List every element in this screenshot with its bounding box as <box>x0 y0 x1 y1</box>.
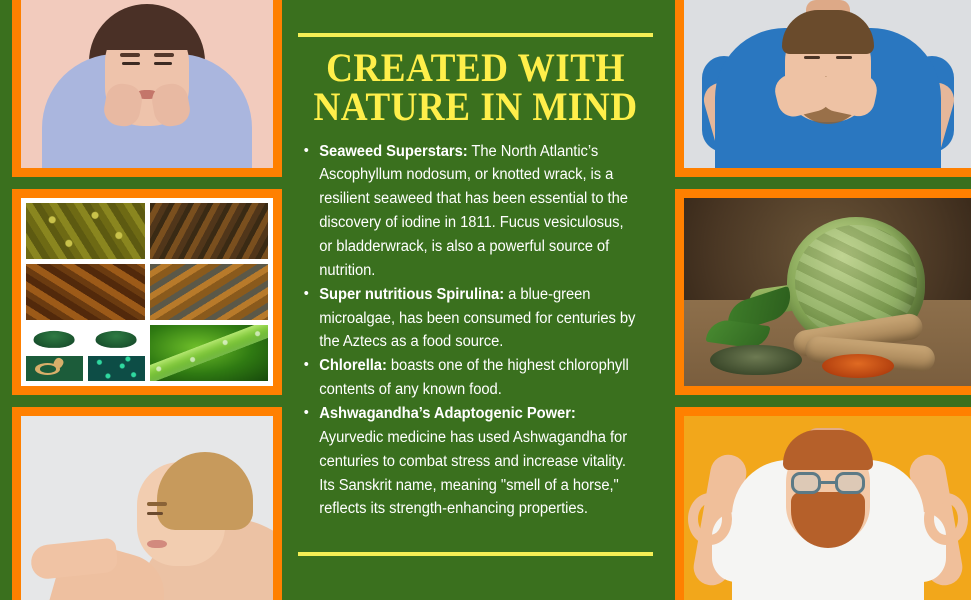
list-item: Ashwagandha’s Adaptogenic Power: Ayurved… <box>298 402 641 521</box>
man-heart-illustration <box>684 0 971 168</box>
ok-gesture-right <box>924 493 968 545</box>
collage-row-top <box>26 203 268 259</box>
collage-cell-spirulina-powder-2 <box>88 325 145 351</box>
still-life-illustration <box>684 198 971 386</box>
page-title: CREATED WITH NATURE IN MIND <box>310 49 640 127</box>
right-photo-column <box>669 0 971 600</box>
hair-shape <box>783 430 873 470</box>
collage-row-bottom <box>26 325 268 381</box>
hair-shape <box>782 10 874 54</box>
left-photo-column <box>0 0 288 600</box>
infographic-poster: CREATED WITH NATURE IN MIND Seaweed Supe… <box>0 0 971 600</box>
photo-man-hands-on-heart-image <box>684 0 971 168</box>
eyebrow-right <box>154 53 174 57</box>
photo-artichoke-roots-image <box>684 198 971 386</box>
powder-mound-2 <box>96 331 137 348</box>
woman-throat-illustration <box>21 0 273 168</box>
headline-rule-top <box>298 33 653 37</box>
eye-right <box>836 56 852 59</box>
lens-left <box>791 472 821 494</box>
collage-row-middle <box>26 264 268 320</box>
photo-woman-hands-at-throat-image <box>21 0 273 168</box>
man-meditating-illustration <box>684 416 971 600</box>
benefits-list: Seaweed Superstars: The North Atlantic’s… <box>298 140 653 522</box>
filament-band <box>150 325 269 381</box>
woman-palm-illustration <box>21 416 273 600</box>
center-text-column: CREATED WITH NATURE IN MIND Seaweed Supe… <box>288 0 669 600</box>
seaweed-collage-grid <box>21 198 273 386</box>
collage-cell-wooden-spoon-powder <box>26 356 83 382</box>
list-item: Seaweed Superstars: The North Atlantic’s… <box>298 140 641 283</box>
footer-spacer <box>298 556 653 600</box>
list-item: Chlorella: boasts one of the highest chl… <box>298 354 641 402</box>
eyebrow <box>147 502 167 506</box>
powder-mound-1 <box>34 331 75 348</box>
photo-frame-seaweed-collage <box>12 189 282 395</box>
eye-left <box>804 56 820 59</box>
photo-frame-man-heart <box>675 0 971 177</box>
lens-right <box>835 472 865 494</box>
list-item: Super nutritious Spirulina: a blue-green… <box>298 283 641 355</box>
photo-frame-man-meditating <box>675 407 971 600</box>
eye-closed <box>147 512 163 515</box>
spoon-bowl <box>35 363 60 375</box>
bullet-body-text: Ayurvedic medicine has used Ashwagandha … <box>319 429 627 518</box>
bullet-body-text: The North Atlantic’s Ascophyllum nodosum… <box>319 143 628 279</box>
photo-frame-woman-throat <box>12 0 282 177</box>
collage-cell-bladderwrack-rocks <box>150 203 269 259</box>
bullet-lead-label: Chlorella: <box>319 357 387 374</box>
center-spacer <box>298 521 653 544</box>
collage-cell-knotted-wrack <box>26 203 145 259</box>
collage-cell-spirulina-powder-1 <box>26 325 83 351</box>
eye-left <box>122 62 140 65</box>
dried-tea-pile <box>710 345 802 375</box>
bullet-lead-label: Ashwagandha’s Adaptogenic Power: <box>319 405 576 422</box>
eyebrow-left <box>120 53 140 57</box>
ok-gesture-left <box>688 493 732 545</box>
eyeglasses-icon <box>791 472 865 494</box>
photo-man-meditating-image <box>684 416 971 600</box>
bullet-lead-label: Super nutritious Spirulina: <box>319 286 504 303</box>
photo-seaweed-algae-collage-image <box>21 198 273 386</box>
collage-cell-spirulina-group <box>26 325 145 381</box>
lips-shape <box>147 540 167 548</box>
eye-right <box>154 62 172 65</box>
collage-cell-algae-granules <box>88 356 145 382</box>
photo-frame-artichoke-still-life <box>675 189 971 395</box>
bullet-lead-label: Seaweed Superstars: <box>319 143 467 160</box>
collage-cell-algae-filament <box>150 325 269 381</box>
glasses-bridge <box>821 481 835 484</box>
collage-cell-fucus-vesiculosus <box>26 264 145 320</box>
collage-cell-brown-seaweed <box>150 264 269 320</box>
photo-frame-woman-palm <box>12 407 282 600</box>
photo-woman-open-palm-image <box>21 416 273 600</box>
